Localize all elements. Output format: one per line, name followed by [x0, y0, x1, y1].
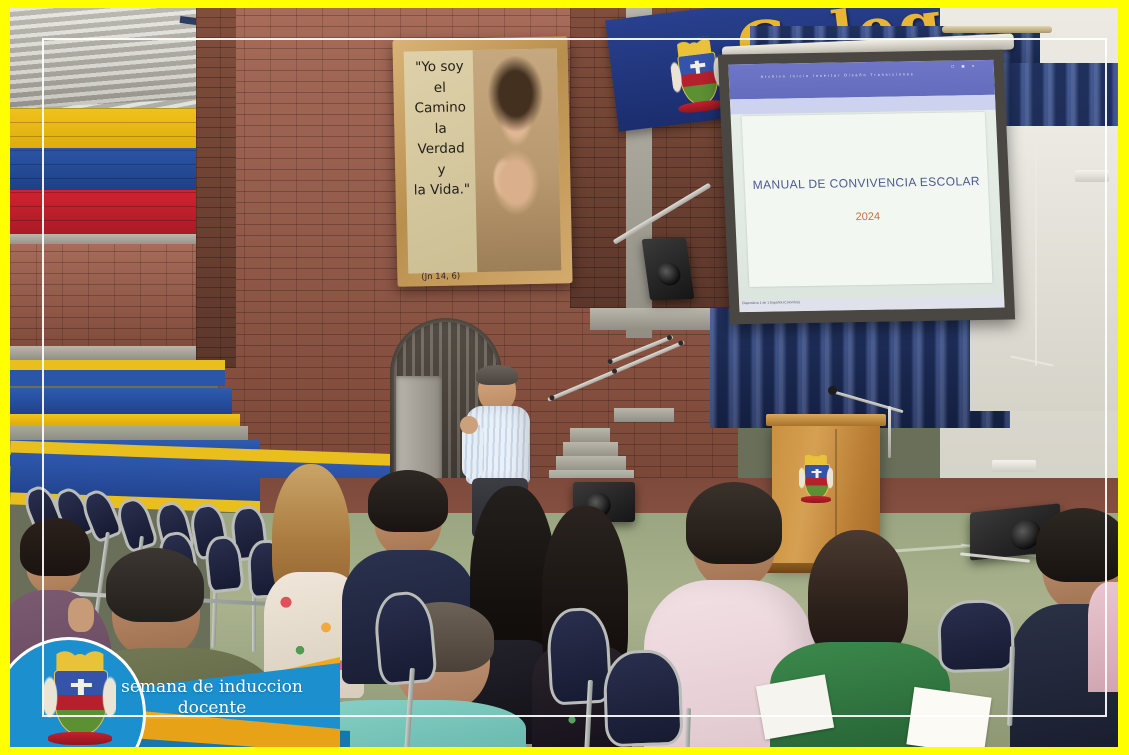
yo-soy-el-camino-poster: "Yo soy el Camino la Verdad y la Vida." …	[392, 36, 572, 287]
wall-outlet	[992, 460, 1036, 472]
yellow-rail	[10, 360, 225, 370]
crest-scroll	[678, 98, 724, 114]
window-controls-icon: ▢ ▣ ✕	[951, 64, 978, 68]
photo-frame: "Yo soy el Camino la Verdad y la Vida." …	[0, 0, 1129, 755]
presenter-hair	[476, 365, 518, 385]
banner-caption-line2: docente	[98, 698, 326, 719]
curtain-stage	[710, 308, 1010, 428]
folding-chair[interactable]	[372, 590, 438, 687]
jesus-portrait-image	[473, 48, 562, 272]
wall-speaker	[642, 238, 695, 301]
presenter-hand	[460, 416, 478, 434]
slide-canvas	[741, 112, 993, 287]
projector-screen[interactable]: Archivo Inicio Insertar Diseño Transicio…	[718, 50, 1015, 325]
blue-rail	[10, 370, 225, 386]
poster-matte: "Yo soy el Camino la Verdad y la Vida."	[404, 48, 562, 273]
microphone-stand	[888, 406, 891, 458]
microphone-icon	[828, 386, 837, 395]
bleacher-sill	[10, 346, 215, 360]
attendee-pink-right	[1088, 582, 1118, 692]
event-banner: semana de induccion docente	[10, 627, 370, 747]
podium-top	[766, 414, 886, 426]
handout-paper[interactable]	[906, 687, 991, 747]
bleacher-step	[10, 388, 232, 416]
bleacher-seam-lines	[10, 108, 222, 236]
curtain-rail	[942, 26, 1052, 33]
presentation-slide: Archivo Inicio Insertar Diseño Transicio…	[728, 60, 1004, 312]
banner-caption: semana de induccion docente	[98, 677, 326, 720]
attendee-body	[1088, 582, 1118, 692]
crest-scroll	[48, 732, 112, 745]
banner-caption-line1: semana de induccion	[98, 677, 326, 698]
attendee-hair	[1036, 508, 1118, 582]
poster-verse-text: "Yo soy el Camino la Verdad y la Vida."	[404, 50, 477, 273]
crest-wings	[799, 463, 834, 493]
attendee-green-blouse	[778, 530, 938, 747]
slide-statusbar: Diapositiva 1 de 1 Español (Colombia)	[739, 295, 1005, 312]
folding-chair[interactable]	[937, 599, 1015, 674]
attendee-hair	[106, 548, 204, 622]
poster-scripture-reference: (Jn 14, 6)	[401, 271, 480, 283]
bleacher-brick-face	[10, 244, 215, 362]
attendee-hair	[368, 470, 448, 532]
stair-landing	[614, 408, 674, 422]
photograph: "Yo soy el Camino la Verdad y la Vida." …	[10, 8, 1118, 747]
brick-wall-left	[196, 8, 236, 368]
folding-chair[interactable]	[602, 649, 683, 747]
hanging-cable	[1035, 136, 1037, 366]
wall-fixture	[1075, 170, 1109, 182]
attendee-hair	[686, 482, 782, 564]
